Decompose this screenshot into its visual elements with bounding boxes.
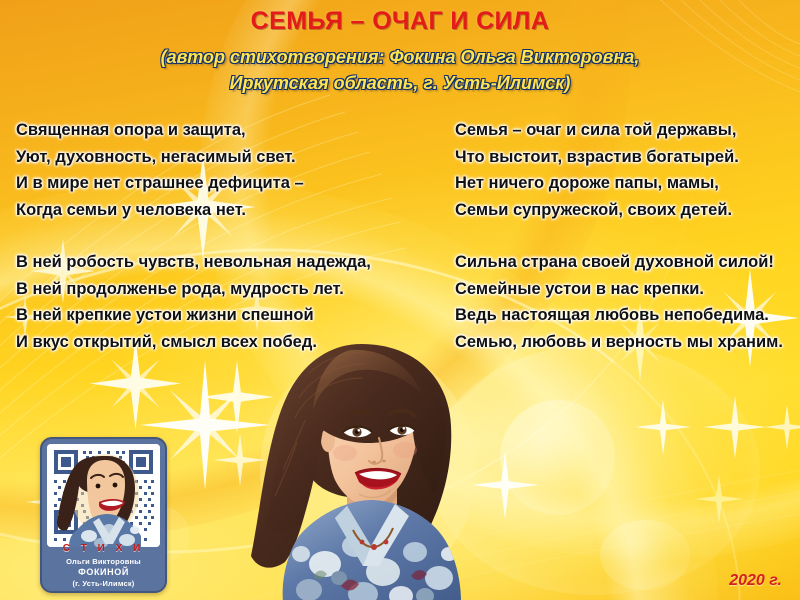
poem-line: Что выстоит, взрастив богатырей. bbox=[455, 144, 783, 171]
poem-stanza: Семья – очаг и сила той державы, Что выс… bbox=[455, 117, 783, 223]
poem-line: Семьи супружеской, своих детей. bbox=[455, 197, 783, 224]
poem-stanza: Сильна страна своей духовной силой! Семе… bbox=[455, 249, 783, 355]
sparkle-star-icon bbox=[760, 400, 800, 454]
subtitle-author: (автор стихотворения: Фокина Ольга Викто… bbox=[0, 44, 800, 96]
author-portrait bbox=[243, 340, 493, 600]
poem-line: Семья – очаг и сила той державы, bbox=[455, 117, 783, 144]
sparkle-star-icon bbox=[700, 392, 770, 462]
badge-word-stikhi: С Т И Х И bbox=[42, 543, 165, 554]
poem-line: Ведь настоящая любовь непобедима. bbox=[455, 302, 783, 329]
poem-stanza: Священная опора и защита, Уют, духовност… bbox=[16, 117, 371, 223]
poem-right-column: Семья – очаг и сила той державы, Что выс… bbox=[455, 117, 783, 355]
poem-line: Сильна страна своей духовной силой! bbox=[455, 249, 783, 276]
poem-line: В ней крепкие устои жизни спешной bbox=[16, 302, 371, 329]
poem-left-column: Священная опора и защита, Уют, духовност… bbox=[16, 117, 371, 355]
poem-line: Нет ничего дороже папы, мамы, bbox=[455, 170, 783, 197]
poem-line: В ней продолженье рода, мудрость лет. bbox=[16, 276, 371, 303]
page-title: СЕМЬЯ – ОЧАГ И СИЛА bbox=[0, 7, 800, 36]
slide-canvas: СЕМЬЯ – ОЧАГ И СИЛА (автор стихотворения… bbox=[0, 0, 800, 600]
year-label: 2020 г. bbox=[729, 572, 782, 590]
subtitle-line-2: Иркутская область, г. Усть-Илимск) bbox=[0, 70, 800, 96]
qr-badge[interactable]: С Т И Х И Ольги Викторовны ФОКИНОЙ (г. У… bbox=[40, 437, 167, 593]
poem-line: И в мире нет страшнее дефицита – bbox=[16, 170, 371, 197]
poem-line: Священная опора и защита, bbox=[16, 117, 371, 144]
poem-line: Уют, духовность, негасимый свет. bbox=[16, 144, 371, 171]
poem-line: Семейные устои в нас крепки. bbox=[455, 276, 783, 303]
qr-code-image[interactable] bbox=[47, 444, 160, 547]
poem-line: Семью, любовь и верность мы храним. bbox=[455, 329, 783, 356]
poem-line: В ней робость чувств, невольная надежда, bbox=[16, 249, 371, 276]
badge-author-city: (г. Усть-Илимск) bbox=[42, 579, 165, 588]
poem-line: Когда семьи у человека нет. bbox=[16, 197, 371, 224]
qr-code-icon bbox=[47, 444, 160, 547]
badge-author-first: Ольги Викторовны bbox=[42, 557, 165, 566]
subtitle-line-1: (автор стихотворения: Фокина Ольга Викто… bbox=[0, 44, 800, 70]
badge-author-last: ФОКИНОЙ bbox=[42, 567, 165, 577]
